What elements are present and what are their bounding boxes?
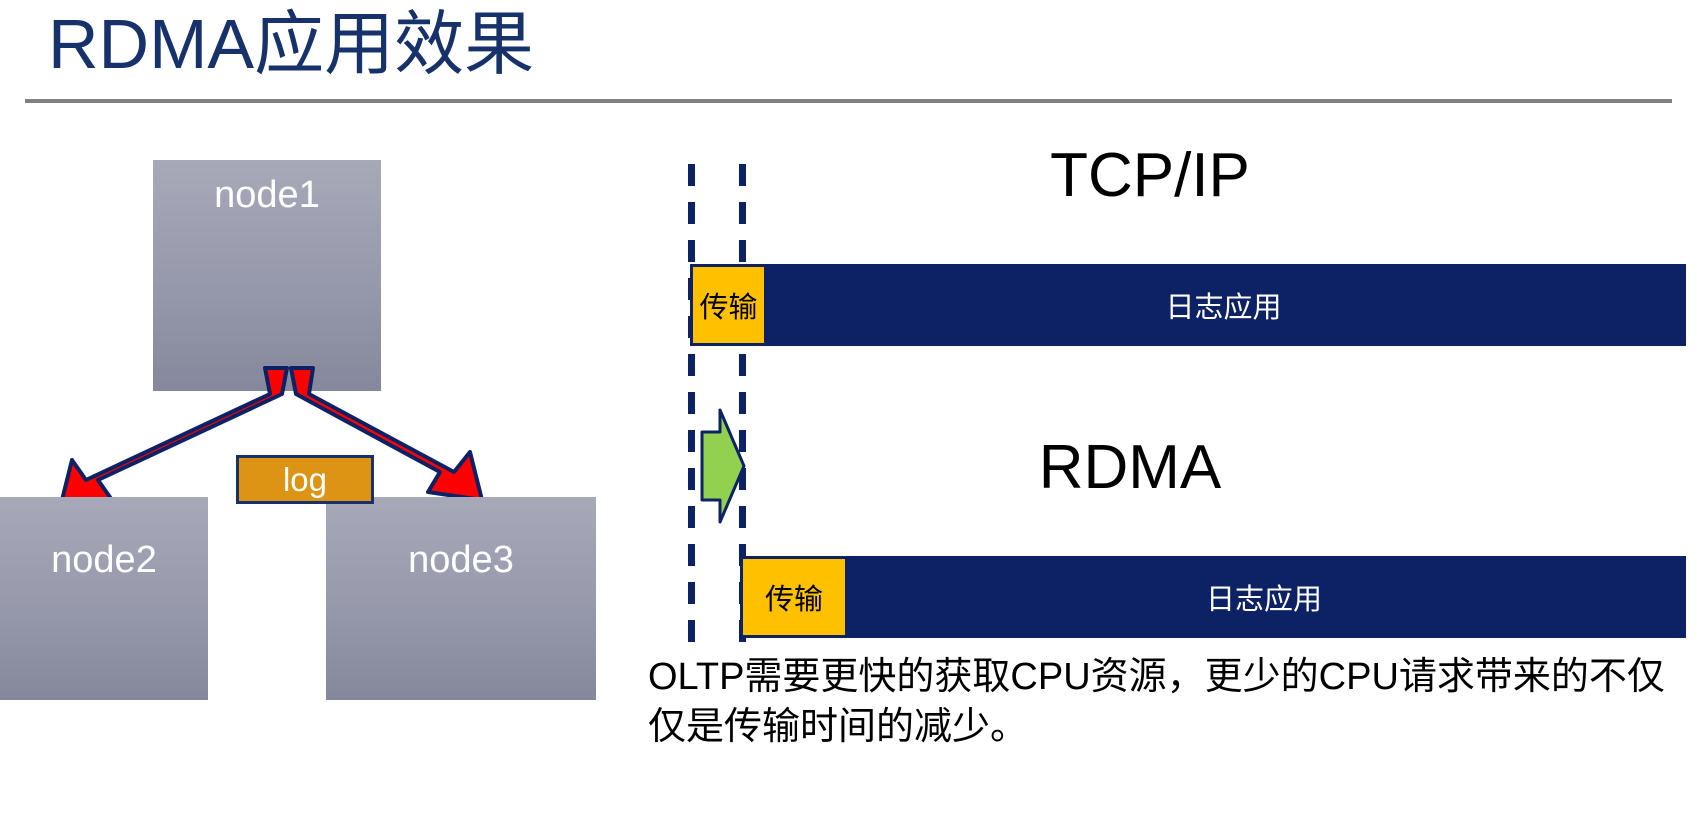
log-label: log (283, 461, 327, 498)
tcpip-transfer-segment: 传输 (693, 267, 764, 343)
node1-label: node1 (214, 174, 320, 216)
tcpip-application-segment: 日志应用 (764, 267, 1683, 343)
tcpip-section-label: TCP/IP (950, 140, 1350, 211)
improvement-arrow-icon (694, 408, 746, 524)
node-box-node1: node1 (153, 160, 381, 391)
tcpip-timeline-bar: 传输 日志应用 (690, 264, 1686, 346)
rdma-transfer-segment: 传输 (743, 559, 845, 635)
log-box: log (236, 455, 374, 504)
slide-caption: OLTP需要更快的获取CPU资源，更少的CPU请求带来的不仅仅是传输时间的减少。 (648, 652, 1668, 752)
node-box-node2: node2 (0, 497, 208, 700)
rdma-timeline-bar: 传输 日志应用 (740, 556, 1686, 638)
rdma-section-label: RDMA (930, 432, 1330, 503)
node-box-node3: node3 (326, 497, 596, 700)
node3-label: node3 (408, 539, 514, 581)
page-title: RDMA应用效果 (48, 0, 534, 90)
rdma-application-segment: 日志应用 (845, 559, 1683, 635)
slide-canvas: RDMA应用效果 node1 node2 node3 log TCP/IP 传输… (0, 0, 1696, 826)
title-divider (25, 99, 1672, 103)
node2-label: node2 (51, 539, 157, 581)
